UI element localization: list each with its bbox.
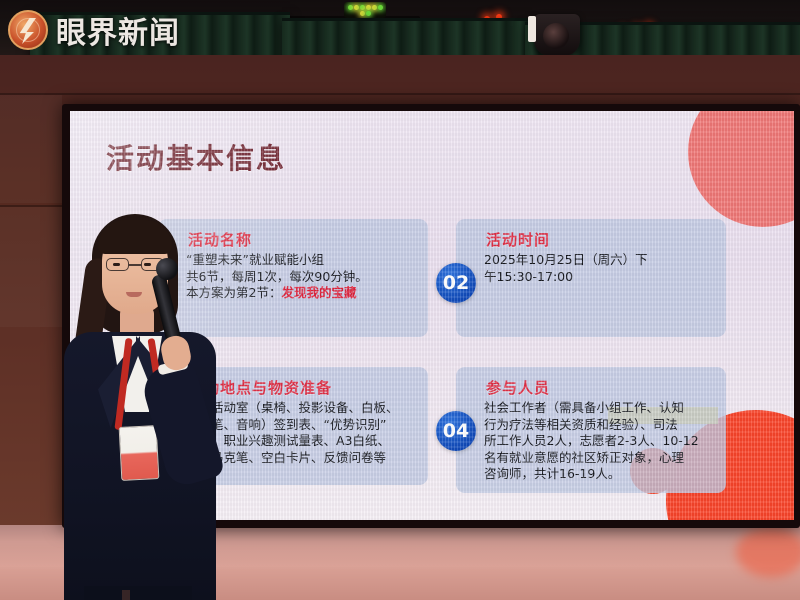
card-body: 社会工作者（需具备小组工作、认知 行为疗法等相关资质和经验）、司法 所工作人员2… — [484, 400, 716, 483]
card-line: 行为疗法等相关资质和经验）、司法 — [484, 417, 678, 432]
id-badge-icon — [119, 425, 160, 481]
card-line: 午15:30-17:00 — [484, 269, 573, 284]
card-title: 活动名称 — [188, 229, 418, 250]
photo-scene: 活动基本信息 01 活动名称 “重塑未来”就业赋能小组 共6节，每周1次，每次9… — [0, 0, 800, 600]
info-cards-grid: 01 活动名称 “重塑未来”就业赋能小组 共6节，每周1次，每次90分钟。 本方… — [136, 207, 748, 503]
card-line: 2025年10月25日（周六）下 — [484, 252, 648, 267]
speaker-presenter — [58, 214, 218, 600]
card-line: 名有就业意愿的社区矫正对象，心理 — [484, 450, 684, 465]
eye-circle-logo-icon — [8, 10, 48, 50]
watermark-text: 眼界新闻 — [56, 8, 180, 52]
card-line: 所工作人员2人，志愿者2-3人、10-12 — [484, 433, 699, 448]
card-body: 2025年10月25日（周六）下 午15:30-17:00 — [484, 252, 716, 285]
card-line: 咨询师，共计16-19人。 — [484, 466, 620, 481]
card-title: 参与人员 — [486, 377, 716, 398]
slide-title: 活动基本信息 — [106, 137, 286, 177]
card-body: “重塑未来”就业赋能小组 共6节，每周1次，每次90分钟。 本方案为第2节：发现… — [186, 252, 418, 302]
info-card-activity-time: 02 活动时间 2025年10月25日（周六）下 午15:30-17:00 — [456, 219, 726, 337]
info-card-participants: 04 参与人员 社会工作者（需具备小组工作、认知 行为疗法等相关资质和经验）、司… — [456, 367, 726, 493]
trousers — [84, 586, 192, 600]
card-number-badge: 02 — [436, 263, 476, 303]
led-array-green-yellow-icon — [344, 2, 386, 18]
card-body: 社区活动室（桌椅、投影设备、白板、 白板笔、音响）签到表、“优势识别” 卡片、职… — [186, 400, 418, 466]
hair-fringe — [98, 220, 172, 254]
mouth — [126, 292, 142, 297]
watermark: 眼界新闻 — [8, 8, 180, 52]
card-number-badge: 04 — [436, 411, 476, 451]
card-line: 社会工作者（需具备小组工作、认知 — [484, 400, 684, 415]
spotlight-arm — [528, 16, 536, 42]
card-line-emphasis: 发现我的宝藏 — [281, 285, 356, 300]
card-title: 活动地点与物资准备 — [188, 377, 418, 398]
card-title: 活动时间 — [486, 229, 716, 250]
moving-head-spotlight-icon — [534, 14, 580, 56]
leg-gap — [122, 590, 130, 600]
cards-row: 03 活动地点与物资准备 社区活动室（桌椅、投影设备、白板、 白板笔、音响）签到… — [136, 355, 748, 503]
cards-row: 01 活动名称 “重塑未来”就业赋能小组 共6节，每周1次，每次90分钟。 本方… — [136, 207, 748, 355]
